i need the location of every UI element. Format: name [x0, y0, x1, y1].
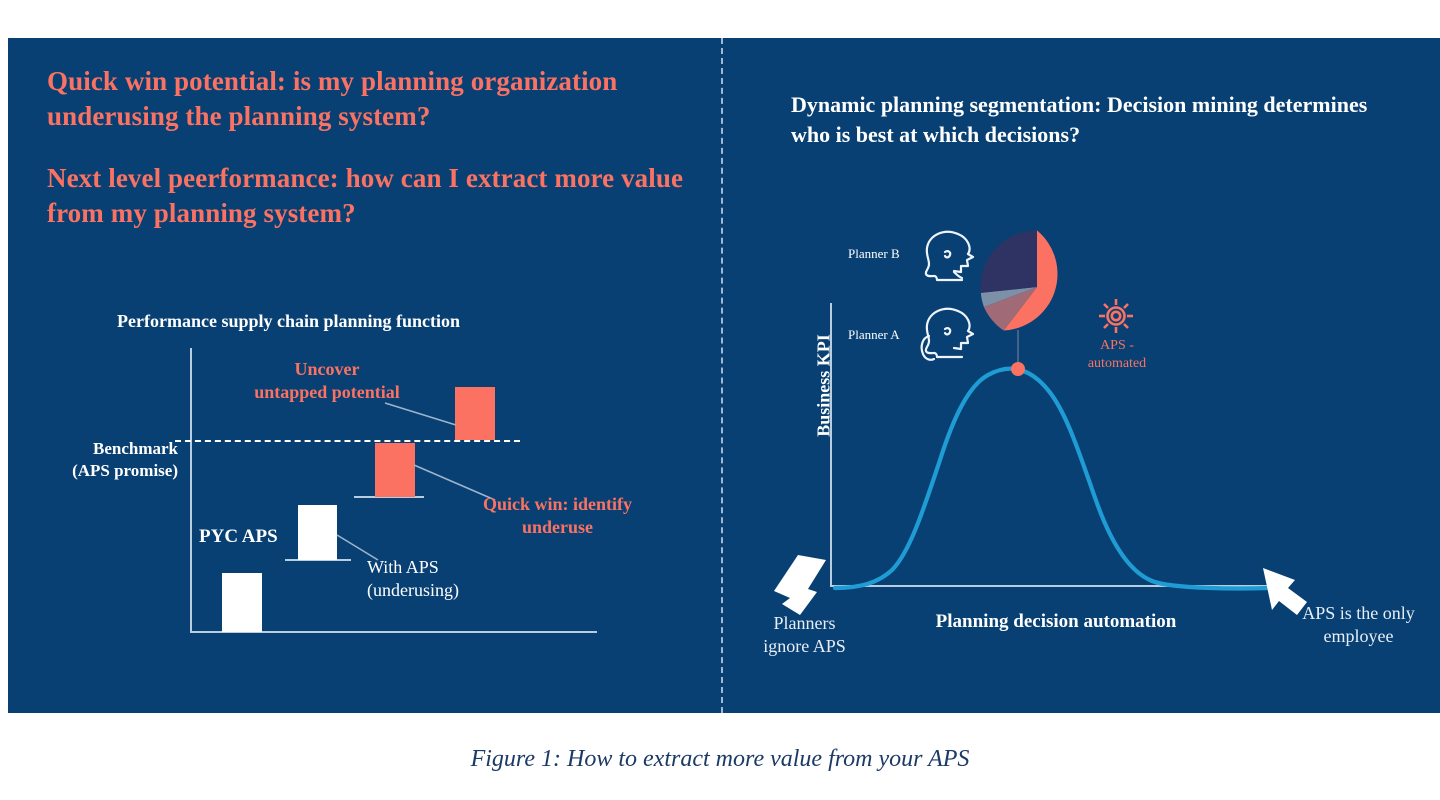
lead-question-1: Quick win potential: is my planning orga… — [47, 64, 687, 134]
decision-mining-pie-chart — [978, 228, 1096, 346]
benchmark-label: Benchmark (APS promise) — [38, 438, 178, 482]
quickwin-line1: Quick win: identify — [460, 493, 655, 516]
column-divider — [721, 38, 723, 713]
benchmark-label-line1: Benchmark — [38, 438, 178, 460]
uncover-line1: Uncover — [222, 358, 432, 381]
note-right-line1: APS is the only — [1281, 602, 1436, 625]
bar-with-aps — [298, 505, 337, 560]
note-planners-ignore-aps: Planners ignore APS — [737, 612, 872, 659]
bar-label-quick-win: Quick win: identify underuse — [460, 493, 655, 539]
bar-label-uncover-potential: Uncover untapped potential — [222, 358, 432, 404]
note-right-line2: employee — [1281, 625, 1436, 648]
left-chart-y-axis — [190, 348, 192, 633]
bar-label-pyc-aps: PYC APS — [199, 526, 278, 548]
bar-pyc-aps — [222, 573, 262, 632]
planner-b-head-icon — [918, 228, 980, 286]
bar-label-with-aps: With APS (underusing) — [367, 556, 459, 603]
figure-canvas: Quick win potential: is my planning orga… — [0, 0, 1440, 800]
aps-automated-line1: APS - — [1072, 337, 1162, 355]
right-chart-x-axis-label: Planning decision automation — [846, 611, 1266, 633]
benchmark-label-line2: (APS promise) — [38, 460, 178, 482]
note-left-line2: ignore APS — [737, 635, 872, 658]
planner-a-head-icon — [918, 305, 980, 363]
right-heading: Dynamic planning segmentation: Decision … — [791, 90, 1401, 151]
note-left-line1: Planners — [737, 612, 872, 635]
aps-automated-label: APS - automated — [1072, 337, 1162, 372]
with-aps-line1: With APS — [367, 556, 459, 579]
lead-question-2: Next level peerformance: how can I extra… — [47, 161, 697, 231]
planner-b-label: Planner B — [848, 246, 900, 262]
benchmark-threshold-line — [175, 440, 520, 442]
uncover-line2: untapped potential — [222, 381, 432, 404]
bar-quick-win — [375, 443, 415, 497]
quickwin-line2: underuse — [460, 516, 655, 539]
figure-caption: Figure 1: How to extract more value from… — [0, 746, 1440, 773]
left-chart-title: Performance supply chain planning functi… — [117, 311, 460, 332]
note-aps-only-employee: APS is the only employee — [1281, 602, 1436, 649]
arrow-planners-ignore-aps — [740, 555, 870, 620]
planner-a-label: Planner A — [848, 327, 900, 343]
with-aps-line2: (underusing) — [367, 579, 459, 602]
gear-icon — [1096, 296, 1136, 336]
bar-uncover-potential — [455, 387, 495, 440]
aps-automated-line2: automated — [1072, 355, 1162, 373]
